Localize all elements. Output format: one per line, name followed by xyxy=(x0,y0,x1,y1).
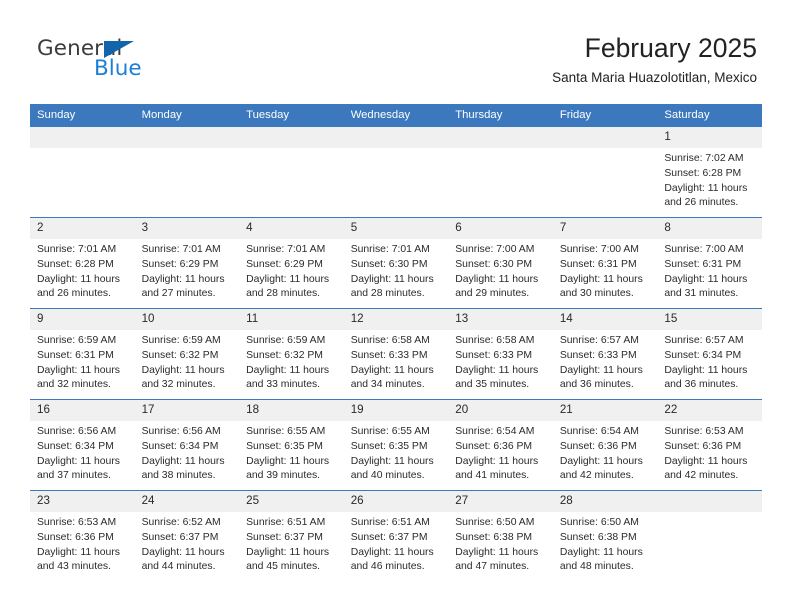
sunset-text: Sunset: 6:32 PM xyxy=(142,349,234,364)
day-details: Sunrise: 6:53 AMSunset: 6:36 PMDaylight:… xyxy=(30,512,135,575)
day-number: 4 xyxy=(239,218,344,239)
day-number xyxy=(135,127,240,148)
sunset-text: Sunset: 6:34 PM xyxy=(142,440,234,455)
sunrise-text: Sunrise: 6:57 AM xyxy=(664,334,756,349)
calendar-day-cell[interactable]: 13Sunrise: 6:58 AMSunset: 6:33 PMDayligh… xyxy=(448,309,553,400)
day-number: 24 xyxy=(135,491,240,512)
sunrise-text: Sunrise: 6:50 AM xyxy=(560,516,652,531)
sunrise-text: Sunrise: 7:00 AM xyxy=(664,243,756,258)
day-number: 21 xyxy=(553,400,658,421)
sunrise-text: Sunrise: 6:59 AM xyxy=(37,334,129,349)
sunrise-text: Sunrise: 7:01 AM xyxy=(142,243,234,258)
sunset-text: Sunset: 6:30 PM xyxy=(351,258,443,273)
day-number: 28 xyxy=(553,491,658,512)
location-subtitle: Santa Maria Huazolotitlan, Mexico xyxy=(552,69,757,87)
day-details: Sunrise: 6:59 AMSunset: 6:32 PMDaylight:… xyxy=(239,330,344,393)
brand-name-blue: Blue xyxy=(94,58,142,80)
sunset-text: Sunset: 6:33 PM xyxy=(560,349,652,364)
calendar-day-cell[interactable]: 16Sunrise: 6:56 AMSunset: 6:34 PMDayligh… xyxy=(30,400,135,491)
day-details: Sunrise: 6:56 AMSunset: 6:34 PMDaylight:… xyxy=(135,421,240,484)
day-number xyxy=(30,127,135,148)
daylight-text: Daylight: 11 hours and 32 minutes. xyxy=(37,364,129,394)
daylight-text: Daylight: 11 hours and 45 minutes. xyxy=(246,546,338,576)
calendar-day-cell[interactable]: 21Sunrise: 6:54 AMSunset: 6:36 PMDayligh… xyxy=(553,400,658,491)
calendar-day-cell[interactable]: 12Sunrise: 6:58 AMSunset: 6:33 PMDayligh… xyxy=(344,309,449,400)
daylight-text: Daylight: 11 hours and 29 minutes. xyxy=(455,273,547,303)
daylight-text: Daylight: 11 hours and 32 minutes. xyxy=(142,364,234,394)
day-number: 5 xyxy=(344,218,449,239)
sunrise-text: Sunrise: 7:00 AM xyxy=(560,243,652,258)
daylight-text: Daylight: 11 hours and 35 minutes. xyxy=(455,364,547,394)
sunrise-text: Sunrise: 6:53 AM xyxy=(37,516,129,531)
sunset-text: Sunset: 6:34 PM xyxy=(37,440,129,455)
daylight-text: Daylight: 11 hours and 47 minutes. xyxy=(455,546,547,576)
day-details: Sunrise: 6:59 AMSunset: 6:32 PMDaylight:… xyxy=(135,330,240,393)
calendar-day-cell[interactable]: 14Sunrise: 6:57 AMSunset: 6:33 PMDayligh… xyxy=(553,309,658,400)
calendar-day-cell[interactable]: 24Sunrise: 6:52 AMSunset: 6:37 PMDayligh… xyxy=(135,491,240,582)
title-block: February 2025 Santa Maria Huazolotitlan,… xyxy=(552,33,757,87)
calendar-day-cell-empty xyxy=(239,127,344,218)
sunset-text: Sunset: 6:36 PM xyxy=(455,440,547,455)
daylight-text: Daylight: 11 hours and 44 minutes. xyxy=(142,546,234,576)
day-number xyxy=(448,127,553,148)
sunrise-text: Sunrise: 7:01 AM xyxy=(37,243,129,258)
weekday-header-sunday: Sunday xyxy=(30,104,135,127)
day-details: Sunrise: 6:51 AMSunset: 6:37 PMDaylight:… xyxy=(344,512,449,575)
day-number: 6 xyxy=(448,218,553,239)
calendar-day-cell-empty xyxy=(553,127,658,218)
sunset-text: Sunset: 6:30 PM xyxy=(455,258,547,273)
sunrise-text: Sunrise: 6:58 AM xyxy=(351,334,443,349)
page-header: General Blue February 2025 Santa Maria H… xyxy=(0,0,792,98)
calendar-week-row: 16Sunrise: 6:56 AMSunset: 6:34 PMDayligh… xyxy=(30,400,762,491)
sunset-text: Sunset: 6:37 PM xyxy=(142,531,234,546)
day-details: Sunrise: 6:53 AMSunset: 6:36 PMDaylight:… xyxy=(657,421,762,484)
day-details: Sunrise: 6:54 AMSunset: 6:36 PMDaylight:… xyxy=(553,421,658,484)
sunrise-text: Sunrise: 6:53 AM xyxy=(664,425,756,440)
calendar-day-cell[interactable]: 26Sunrise: 6:51 AMSunset: 6:37 PMDayligh… xyxy=(344,491,449,582)
calendar-page: General Blue February 2025 Santa Maria H… xyxy=(0,0,792,612)
day-number: 8 xyxy=(657,218,762,239)
day-details: Sunrise: 6:58 AMSunset: 6:33 PMDaylight:… xyxy=(448,330,553,393)
day-number: 19 xyxy=(344,400,449,421)
sunrise-text: Sunrise: 7:01 AM xyxy=(246,243,338,258)
daylight-text: Daylight: 11 hours and 46 minutes. xyxy=(351,546,443,576)
page-title: February 2025 xyxy=(552,33,757,64)
calendar-day-cell[interactable]: 1Sunrise: 7:02 AMSunset: 6:28 PMDaylight… xyxy=(657,127,762,218)
day-number: 22 xyxy=(657,400,762,421)
sunrise-text: Sunrise: 6:51 AM xyxy=(246,516,338,531)
sunset-text: Sunset: 6:38 PM xyxy=(560,531,652,546)
day-details: Sunrise: 6:54 AMSunset: 6:36 PMDaylight:… xyxy=(448,421,553,484)
daylight-text: Daylight: 11 hours and 28 minutes. xyxy=(351,273,443,303)
sunset-text: Sunset: 6:31 PM xyxy=(37,349,129,364)
calendar-header-row: SundayMondayTuesdayWednesdayThursdayFrid… xyxy=(30,104,762,127)
day-number: 16 xyxy=(30,400,135,421)
weekday-header-friday: Friday xyxy=(553,104,658,127)
daylight-text: Daylight: 11 hours and 28 minutes. xyxy=(246,273,338,303)
sunrise-text: Sunrise: 6:50 AM xyxy=(455,516,547,531)
day-details: Sunrise: 6:57 AMSunset: 6:34 PMDaylight:… xyxy=(657,330,762,393)
sunset-text: Sunset: 6:31 PM xyxy=(560,258,652,273)
day-number: 2 xyxy=(30,218,135,239)
day-number: 11 xyxy=(239,309,344,330)
weekday-header-tuesday: Tuesday xyxy=(239,104,344,127)
sunrise-text: Sunrise: 7:01 AM xyxy=(351,243,443,258)
day-number: 27 xyxy=(448,491,553,512)
sunrise-text: Sunrise: 6:56 AM xyxy=(142,425,234,440)
day-number xyxy=(239,127,344,148)
daylight-text: Daylight: 11 hours and 39 minutes. xyxy=(246,455,338,485)
day-number: 20 xyxy=(448,400,553,421)
daylight-text: Daylight: 11 hours and 48 minutes. xyxy=(560,546,652,576)
daylight-text: Daylight: 11 hours and 37 minutes. xyxy=(37,455,129,485)
calendar-day-cell[interactable]: 28Sunrise: 6:50 AMSunset: 6:38 PMDayligh… xyxy=(553,491,658,582)
sunrise-text: Sunrise: 6:56 AM xyxy=(37,425,129,440)
calendar-day-cell[interactable]: 10Sunrise: 6:59 AMSunset: 6:32 PMDayligh… xyxy=(135,309,240,400)
calendar-week-row: 23Sunrise: 6:53 AMSunset: 6:36 PMDayligh… xyxy=(30,491,762,582)
weekday-header-monday: Monday xyxy=(135,104,240,127)
day-details: Sunrise: 6:57 AMSunset: 6:33 PMDaylight:… xyxy=(553,330,658,393)
sunset-text: Sunset: 6:37 PM xyxy=(351,531,443,546)
sunrise-text: Sunrise: 6:55 AM xyxy=(351,425,443,440)
day-number: 23 xyxy=(30,491,135,512)
weekday-header-saturday: Saturday xyxy=(657,104,762,127)
day-details: Sunrise: 7:00 AMSunset: 6:31 PMDaylight:… xyxy=(553,239,658,302)
sunset-text: Sunset: 6:31 PM xyxy=(664,258,756,273)
day-number: 3 xyxy=(135,218,240,239)
day-number: 12 xyxy=(344,309,449,330)
sunrise-text: Sunrise: 6:52 AM xyxy=(142,516,234,531)
calendar-day-cell[interactable]: 7Sunrise: 7:00 AMSunset: 6:31 PMDaylight… xyxy=(553,218,658,309)
daylight-text: Daylight: 11 hours and 40 minutes. xyxy=(351,455,443,485)
day-details: Sunrise: 7:02 AMSunset: 6:28 PMDaylight:… xyxy=(657,148,762,211)
sunset-text: Sunset: 6:35 PM xyxy=(351,440,443,455)
calendar-day-cell[interactable]: 5Sunrise: 7:01 AMSunset: 6:30 PMDaylight… xyxy=(344,218,449,309)
day-number: 10 xyxy=(135,309,240,330)
day-details: Sunrise: 6:55 AMSunset: 6:35 PMDaylight:… xyxy=(344,421,449,484)
calendar-day-cell[interactable]: 22Sunrise: 6:53 AMSunset: 6:36 PMDayligh… xyxy=(657,400,762,491)
day-details: Sunrise: 6:55 AMSunset: 6:35 PMDaylight:… xyxy=(239,421,344,484)
sunset-text: Sunset: 6:28 PM xyxy=(37,258,129,273)
day-details: Sunrise: 7:01 AMSunset: 6:29 PMDaylight:… xyxy=(135,239,240,302)
day-number: 13 xyxy=(448,309,553,330)
day-details: Sunrise: 7:00 AMSunset: 6:31 PMDaylight:… xyxy=(657,239,762,302)
sunset-text: Sunset: 6:36 PM xyxy=(37,531,129,546)
day-details: Sunrise: 7:01 AMSunset: 6:28 PMDaylight:… xyxy=(30,239,135,302)
daylight-text: Daylight: 11 hours and 33 minutes. xyxy=(246,364,338,394)
day-details: Sunrise: 6:58 AMSunset: 6:33 PMDaylight:… xyxy=(344,330,449,393)
sunrise-text: Sunrise: 7:00 AM xyxy=(455,243,547,258)
calendar-day-cell[interactable]: 8Sunrise: 7:00 AMSunset: 6:31 PMDaylight… xyxy=(657,218,762,309)
weekday-header-wednesday: Wednesday xyxy=(344,104,449,127)
sunrise-text: Sunrise: 6:59 AM xyxy=(142,334,234,349)
calendar-day-cell-empty xyxy=(448,127,553,218)
daylight-text: Daylight: 11 hours and 31 minutes. xyxy=(664,273,756,303)
day-number: 25 xyxy=(239,491,344,512)
calendar-body: 1Sunrise: 7:02 AMSunset: 6:28 PMDaylight… xyxy=(30,127,762,582)
calendar-day-cell-empty xyxy=(657,491,762,582)
day-number xyxy=(344,127,449,148)
brand-logo[interactable]: General Blue xyxy=(37,38,267,90)
sunrise-text: Sunrise: 6:55 AM xyxy=(246,425,338,440)
calendar-week-row: 2Sunrise: 7:01 AMSunset: 6:28 PMDaylight… xyxy=(30,218,762,309)
day-details: Sunrise: 7:00 AMSunset: 6:30 PMDaylight:… xyxy=(448,239,553,302)
calendar-day-cell[interactable]: 20Sunrise: 6:54 AMSunset: 6:36 PMDayligh… xyxy=(448,400,553,491)
calendar-day-cell[interactable]: 19Sunrise: 6:55 AMSunset: 6:35 PMDayligh… xyxy=(344,400,449,491)
calendar-table: SundayMondayTuesdayWednesdayThursdayFrid… xyxy=(30,104,762,581)
sunrise-text: Sunrise: 6:59 AM xyxy=(246,334,338,349)
day-number xyxy=(657,491,762,512)
day-number: 18 xyxy=(239,400,344,421)
calendar-day-cell[interactable]: 25Sunrise: 6:51 AMSunset: 6:37 PMDayligh… xyxy=(239,491,344,582)
daylight-text: Daylight: 11 hours and 27 minutes. xyxy=(142,273,234,303)
weekday-header-thursday: Thursday xyxy=(448,104,553,127)
daylight-text: Daylight: 11 hours and 36 minutes. xyxy=(664,364,756,394)
sunset-text: Sunset: 6:29 PM xyxy=(142,258,234,273)
day-number: 17 xyxy=(135,400,240,421)
day-details: Sunrise: 6:52 AMSunset: 6:37 PMDaylight:… xyxy=(135,512,240,575)
sunset-text: Sunset: 6:33 PM xyxy=(351,349,443,364)
daylight-text: Daylight: 11 hours and 42 minutes. xyxy=(664,455,756,485)
calendar-day-cell-empty xyxy=(135,127,240,218)
sunrise-text: Sunrise: 6:54 AM xyxy=(455,425,547,440)
day-details: Sunrise: 7:01 AMSunset: 6:29 PMDaylight:… xyxy=(239,239,344,302)
day-details: Sunrise: 6:50 AMSunset: 6:38 PMDaylight:… xyxy=(448,512,553,575)
calendar-day-cell[interactable]: 4Sunrise: 7:01 AMSunset: 6:29 PMDaylight… xyxy=(239,218,344,309)
calendar-day-cell[interactable]: 6Sunrise: 7:00 AMSunset: 6:30 PMDaylight… xyxy=(448,218,553,309)
day-number: 7 xyxy=(553,218,658,239)
day-details: Sunrise: 6:56 AMSunset: 6:34 PMDaylight:… xyxy=(30,421,135,484)
sunset-text: Sunset: 6:33 PM xyxy=(455,349,547,364)
daylight-text: Daylight: 11 hours and 36 minutes. xyxy=(560,364,652,394)
sunset-text: Sunset: 6:34 PM xyxy=(664,349,756,364)
calendar-day-cell[interactable]: 3Sunrise: 7:01 AMSunset: 6:29 PMDaylight… xyxy=(135,218,240,309)
sunset-text: Sunset: 6:35 PM xyxy=(246,440,338,455)
sunset-text: Sunset: 6:38 PM xyxy=(455,531,547,546)
day-details: Sunrise: 7:01 AMSunset: 6:30 PMDaylight:… xyxy=(344,239,449,302)
calendar-week-row: 1Sunrise: 7:02 AMSunset: 6:28 PMDaylight… xyxy=(30,127,762,218)
daylight-text: Daylight: 11 hours and 34 minutes. xyxy=(351,364,443,394)
day-number: 26 xyxy=(344,491,449,512)
daylight-text: Daylight: 11 hours and 38 minutes. xyxy=(142,455,234,485)
sunrise-text: Sunrise: 6:54 AM xyxy=(560,425,652,440)
sunset-text: Sunset: 6:29 PM xyxy=(246,258,338,273)
sunset-text: Sunset: 6:36 PM xyxy=(664,440,756,455)
day-details: Sunrise: 6:51 AMSunset: 6:37 PMDaylight:… xyxy=(239,512,344,575)
calendar-day-cell-empty xyxy=(30,127,135,218)
day-details: Sunrise: 6:59 AMSunset: 6:31 PMDaylight:… xyxy=(30,330,135,393)
day-number: 1 xyxy=(657,127,762,148)
calendar-day-cell[interactable]: 17Sunrise: 6:56 AMSunset: 6:34 PMDayligh… xyxy=(135,400,240,491)
calendar-day-cell[interactable]: 11Sunrise: 6:59 AMSunset: 6:32 PMDayligh… xyxy=(239,309,344,400)
day-number: 9 xyxy=(30,309,135,330)
calendar-day-cell[interactable]: 18Sunrise: 6:55 AMSunset: 6:35 PMDayligh… xyxy=(239,400,344,491)
day-number: 14 xyxy=(553,309,658,330)
day-details: Sunrise: 6:50 AMSunset: 6:38 PMDaylight:… xyxy=(553,512,658,575)
day-number: 15 xyxy=(657,309,762,330)
sunrise-text: Sunrise: 6:58 AM xyxy=(455,334,547,349)
calendar-day-cell[interactable]: 2Sunrise: 7:01 AMSunset: 6:28 PMDaylight… xyxy=(30,218,135,309)
daylight-text: Daylight: 11 hours and 43 minutes. xyxy=(37,546,129,576)
daylight-text: Daylight: 11 hours and 30 minutes. xyxy=(560,273,652,303)
calendar-day-cell-empty xyxy=(344,127,449,218)
daylight-text: Daylight: 11 hours and 41 minutes. xyxy=(455,455,547,485)
sunrise-text: Sunrise: 7:02 AM xyxy=(664,152,756,167)
sunset-text: Sunset: 6:28 PM xyxy=(664,167,756,182)
sunset-text: Sunset: 6:32 PM xyxy=(246,349,338,364)
sunset-text: Sunset: 6:37 PM xyxy=(246,531,338,546)
sunrise-text: Sunrise: 6:57 AM xyxy=(560,334,652,349)
daylight-text: Daylight: 11 hours and 26 minutes. xyxy=(664,182,756,212)
calendar-day-cell[interactable]: 15Sunrise: 6:57 AMSunset: 6:34 PMDayligh… xyxy=(657,309,762,400)
sunset-text: Sunset: 6:36 PM xyxy=(560,440,652,455)
calendar-week-row: 9Sunrise: 6:59 AMSunset: 6:31 PMDaylight… xyxy=(30,309,762,400)
calendar-day-cell[interactable]: 23Sunrise: 6:53 AMSunset: 6:36 PMDayligh… xyxy=(30,491,135,582)
daylight-text: Daylight: 11 hours and 42 minutes. xyxy=(560,455,652,485)
calendar-day-cell[interactable]: 27Sunrise: 6:50 AMSunset: 6:38 PMDayligh… xyxy=(448,491,553,582)
day-number xyxy=(553,127,658,148)
calendar-day-cell[interactable]: 9Sunrise: 6:59 AMSunset: 6:31 PMDaylight… xyxy=(30,309,135,400)
daylight-text: Daylight: 11 hours and 26 minutes. xyxy=(37,273,129,303)
sunrise-text: Sunrise: 6:51 AM xyxy=(351,516,443,531)
